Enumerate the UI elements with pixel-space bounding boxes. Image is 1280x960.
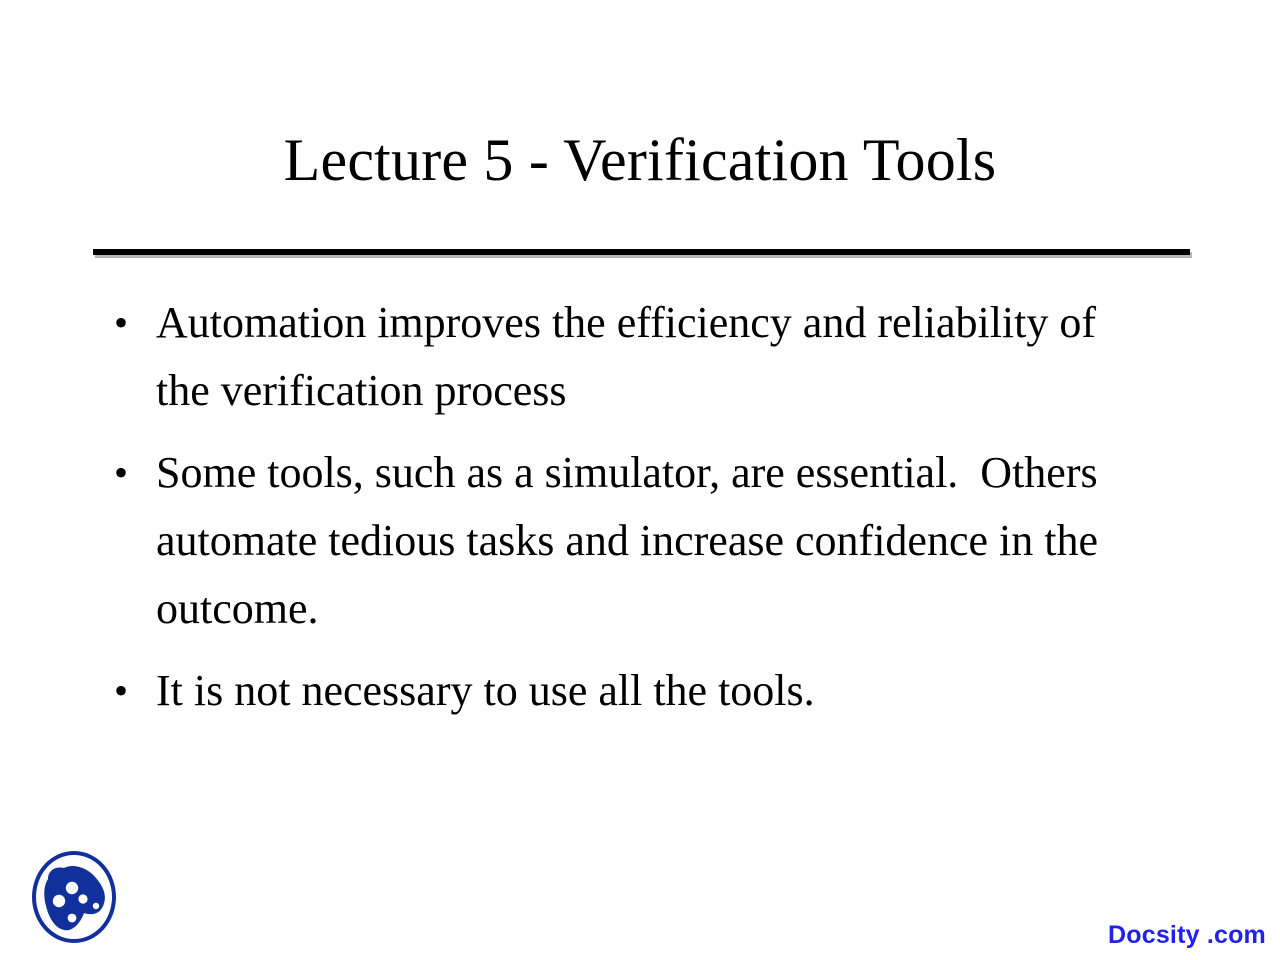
presentation-slide: Lecture 5 - Verification Tools • Automat… — [0, 0, 1280, 960]
bullet-point-icon: • — [114, 289, 138, 357]
bullet-text: Automation improves the efficiency and r… — [156, 289, 1108, 425]
list-item: • Automation improves the efficiency and… — [108, 289, 1108, 425]
docsity-logo-icon — [28, 848, 120, 946]
bullet-point-icon: • — [114, 439, 138, 507]
bullet-list: • Automation improves the efficiency and… — [108, 289, 1108, 725]
slide-title: Lecture 5 - Verification Tools — [90, 124, 1190, 196]
bullet-point-icon: • — [114, 657, 138, 725]
bullet-text: It is not necessary to use all the tools… — [156, 657, 1108, 725]
title-divider-rule — [93, 249, 1190, 255]
docsity-brand-text: Docsity .com — [1108, 920, 1266, 950]
bullet-text: Some tools, such as a simulator, are ess… — [156, 439, 1108, 643]
list-item: • Some tools, such as a simulator, are e… — [108, 439, 1108, 643]
list-item: • It is not necessary to use all the too… — [108, 657, 1108, 725]
